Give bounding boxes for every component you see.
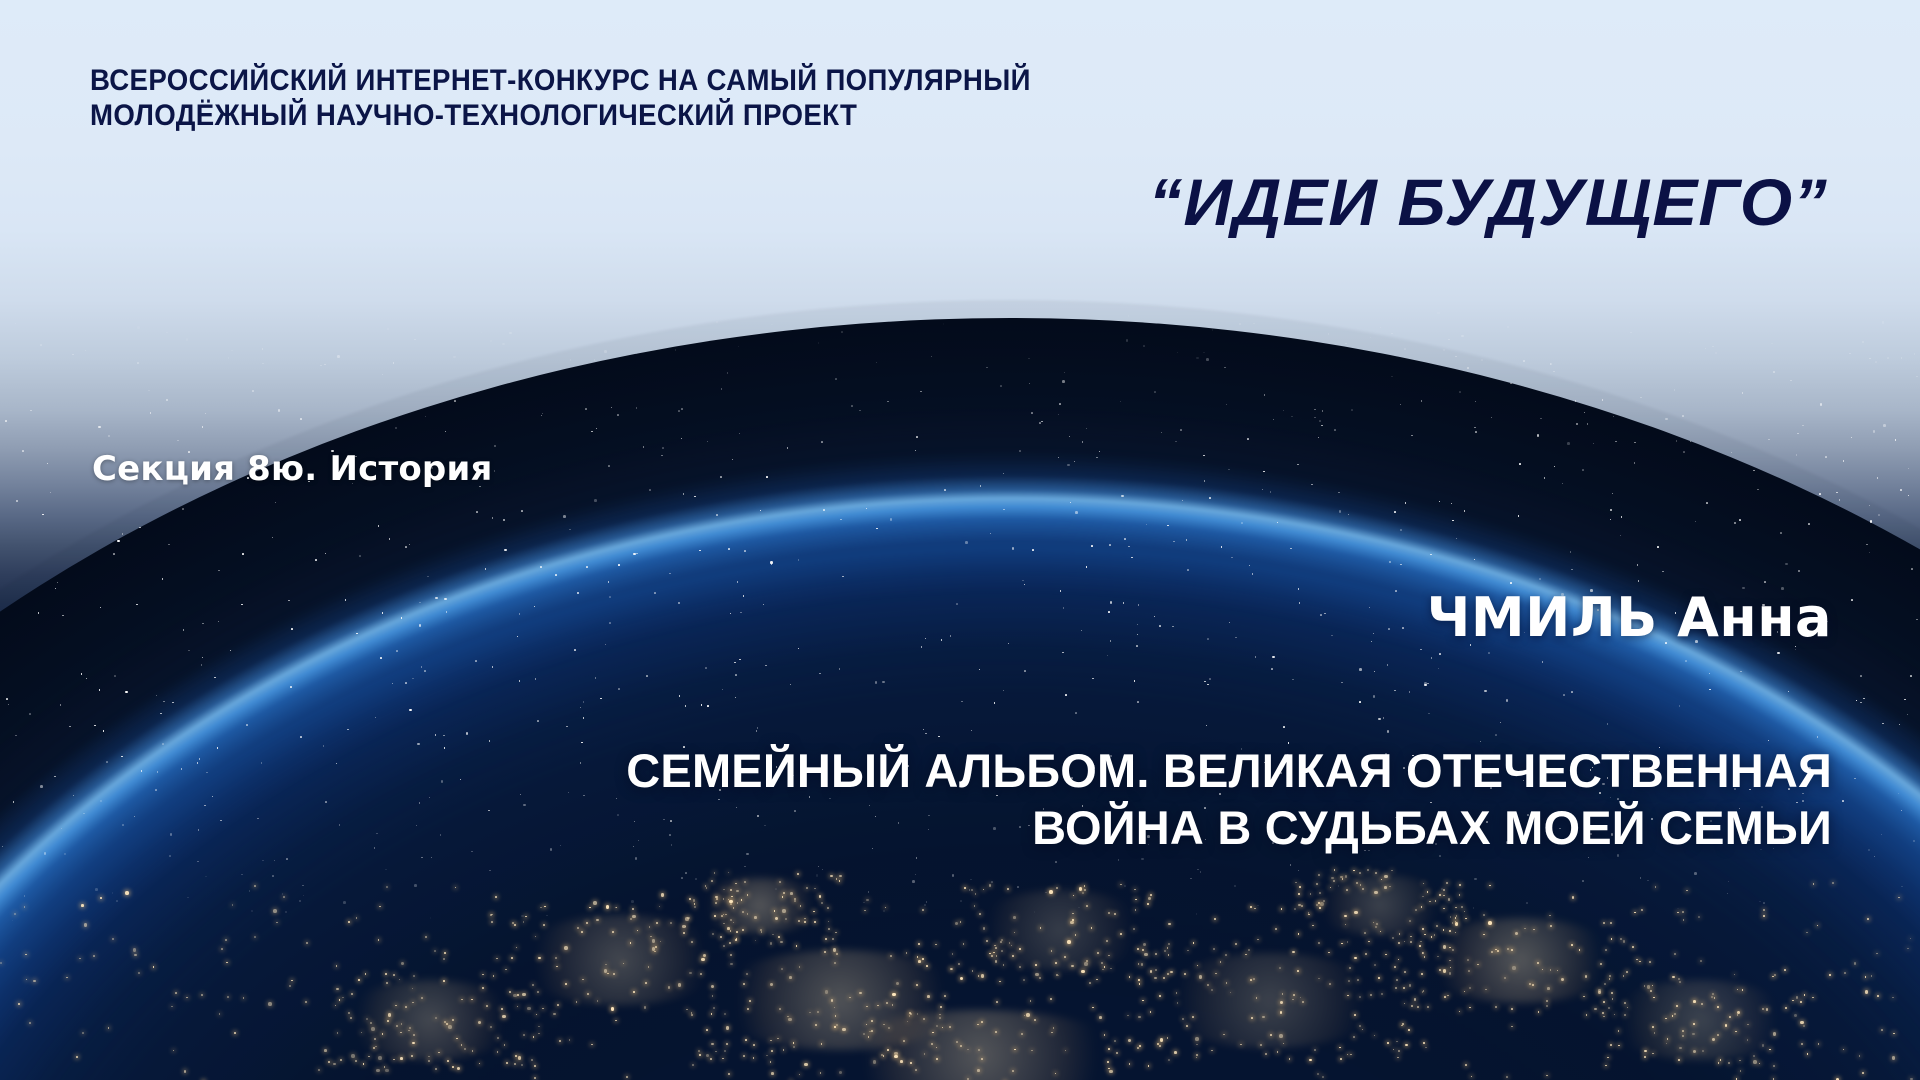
section-label: Секция 8ю. История xyxy=(92,449,493,489)
competition-main-title: “ИДЕИ БУДУЩЕГО” xyxy=(1149,164,1828,240)
author-name: ЧМИЛЬ Анна xyxy=(1427,586,1832,649)
project-title-line-1: СЕМЕЙНЫЙ АЛЬБОМ. ВЕЛИКАЯ ОТЕЧЕСТВЕННАЯ xyxy=(332,742,1832,799)
project-title: СЕМЕЙНЫЙ АЛЬБОМ. ВЕЛИКАЯ ОТЕЧЕСТВЕННАЯ В… xyxy=(332,742,1832,857)
competition-name-line-1: ВСЕРОССИЙСКИЙ ИНТЕРНЕТ-КОНКУРС НА САМЫЙ … xyxy=(90,64,1031,99)
competition-name-line-2: МОЛОДЁЖНЫЙ НАУЧНО-ТЕХНОЛОГИЧЕСКИЙ ПРОЕКТ xyxy=(90,99,857,134)
project-title-line-2: ВОЙНА В СУДЬБАХ МОЕЙ СЕМЬИ xyxy=(332,799,1832,856)
slide-text-layer: ВСЕРОССИЙСКИЙ ИНТЕРНЕТ-КОНКУРС НА САМЫЙ … xyxy=(0,0,1920,1080)
presentation-slide: ВСЕРОССИЙСКИЙ ИНТЕРНЕТ-КОНКУРС НА САМЫЙ … xyxy=(0,0,1920,1080)
